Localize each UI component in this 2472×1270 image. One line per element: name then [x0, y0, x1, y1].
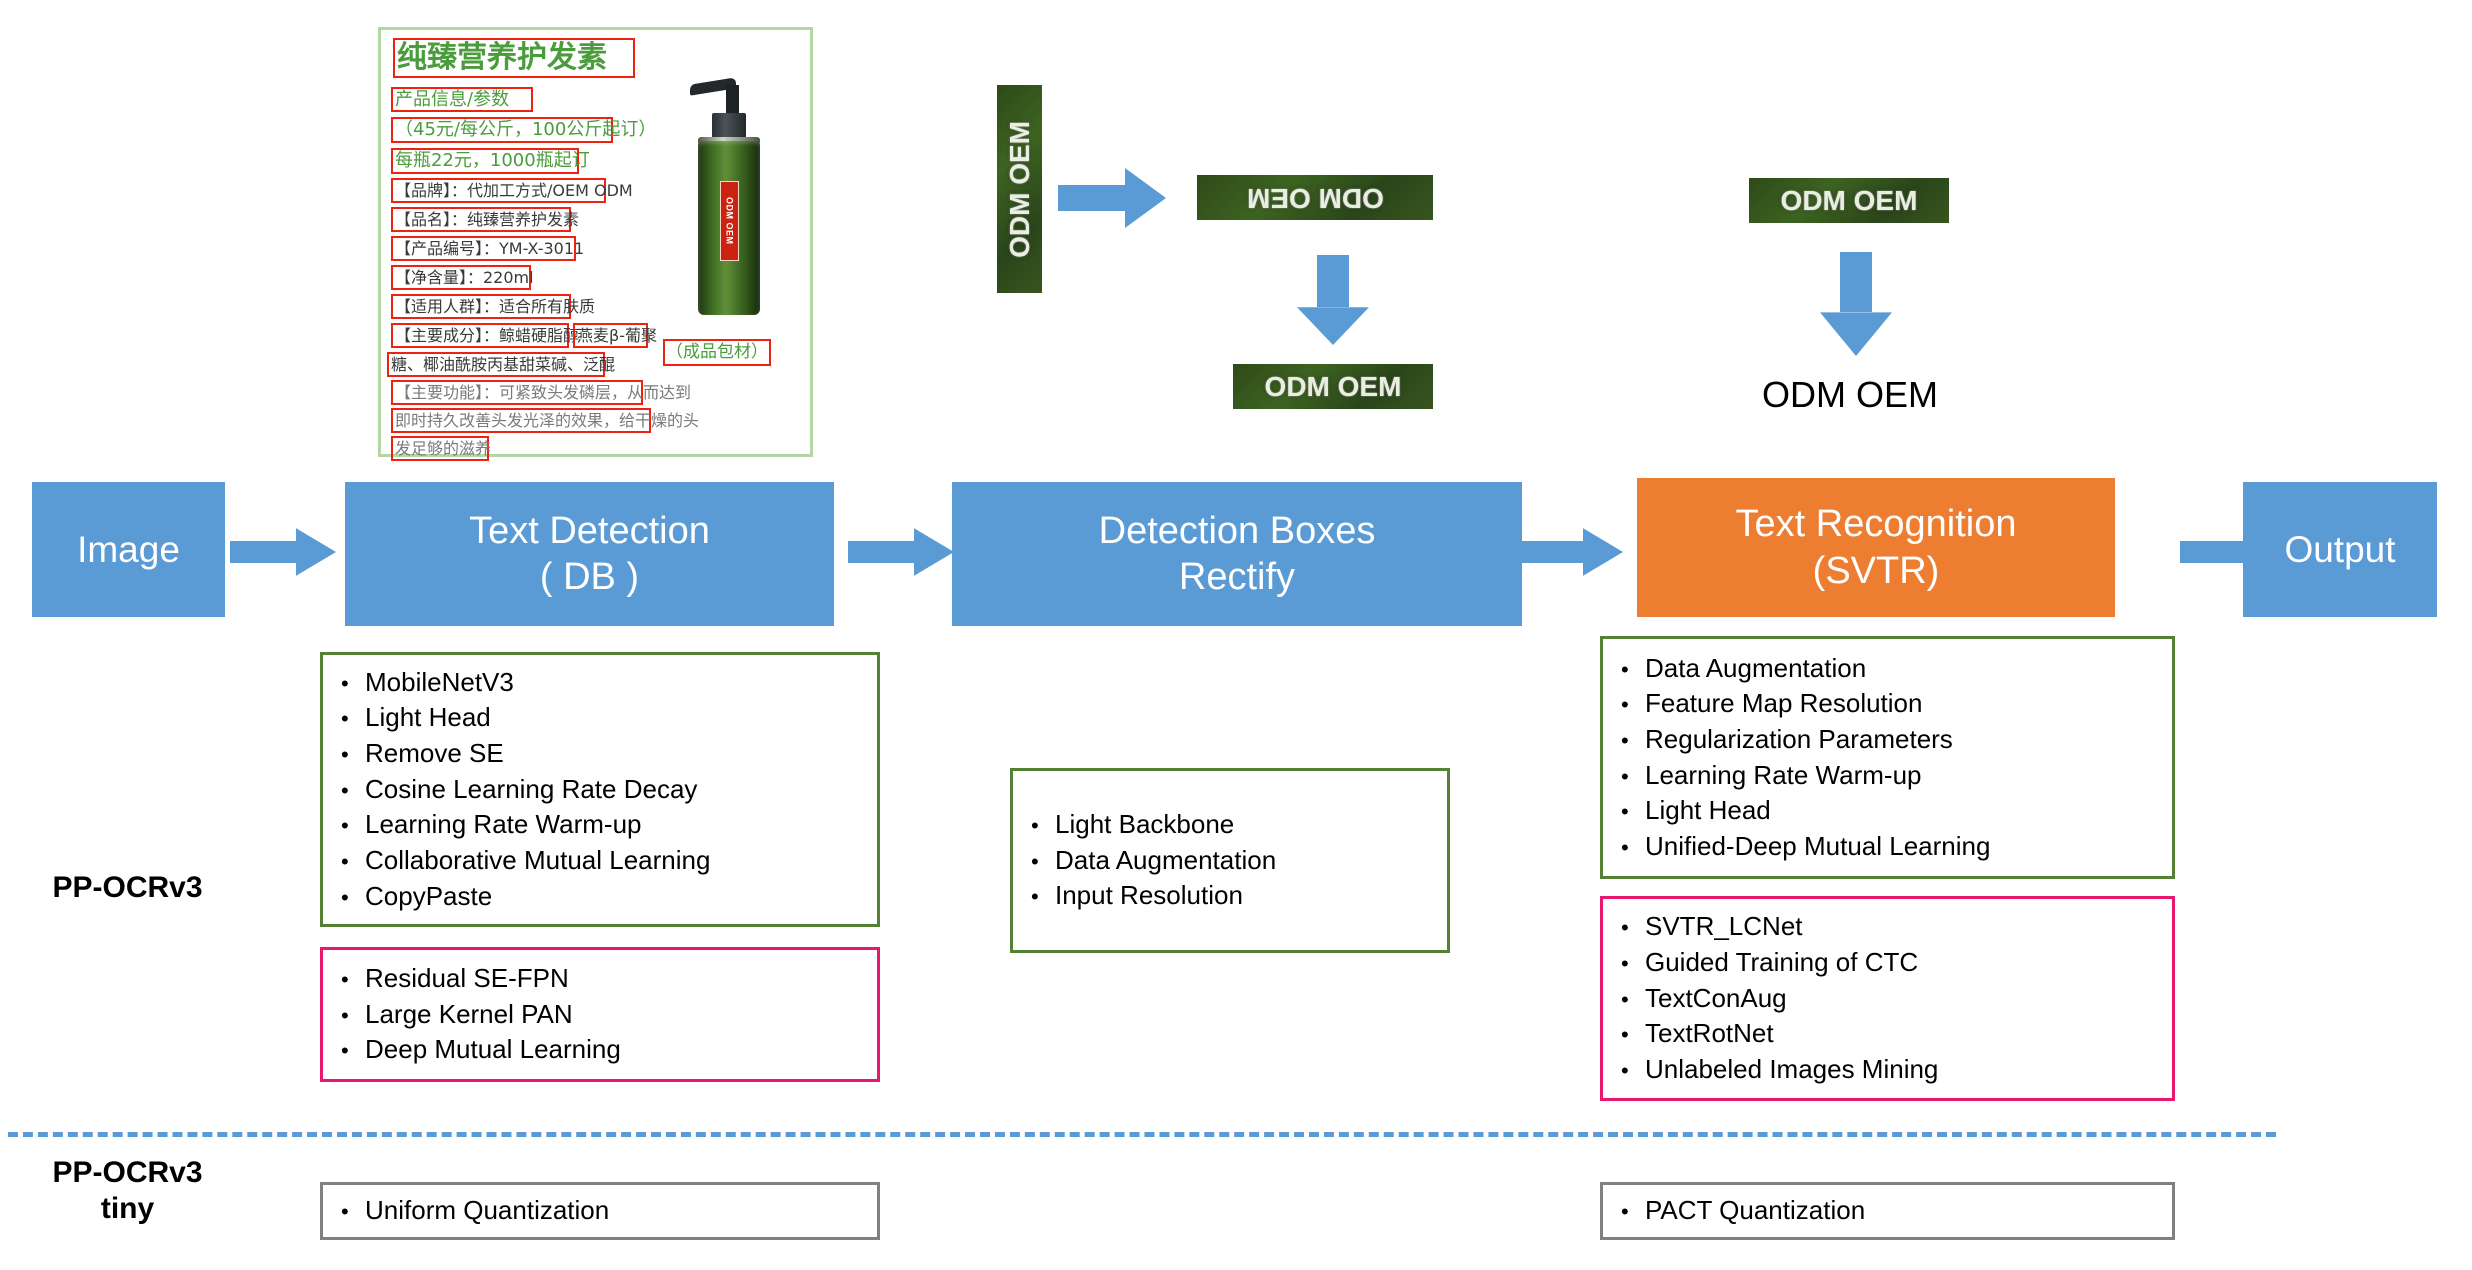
list-item-label: PACT Quantization	[1645, 1193, 1865, 1229]
tiny-recognition-list: •PACT Quantization	[1603, 1193, 2172, 1229]
detected-text-box: 【品名】：纯臻营养护发素	[391, 207, 571, 232]
list-item: •TextRotNet	[1603, 1016, 2172, 1052]
list-item-label: TextConAug	[1645, 981, 1787, 1017]
list-item-label: Data Augmentation	[1645, 651, 1866, 687]
sample-product-image-frame: 纯臻营养护发素 产品信息/参数 （45元/每公斤，100公斤起订） 每瓶22元，…	[378, 27, 813, 457]
card-tiny-detection-quantization: •Uniform Quantization	[320, 1182, 880, 1240]
list-item-label: Residual SE-FPN	[365, 961, 569, 997]
bullet-icon: •	[323, 704, 365, 734]
detection-new-list: •Residual SE-FPN •Large Kernel PAN •Deep…	[323, 961, 877, 1068]
detected-text-box: 【适用人群】：适合所有肤质	[391, 294, 571, 319]
list-item: •Data Augmentation	[1013, 843, 1447, 879]
list-item: •TextConAug	[1603, 981, 2172, 1017]
list-item: •SVTR_LCNet	[1603, 909, 2172, 945]
detected-text-box: 每瓶22元，1000瓶起订	[391, 148, 579, 174]
list-item-label: Cosine Learning Rate Decay	[365, 772, 697, 808]
bullet-icon: •	[1603, 726, 1645, 756]
bullet-icon: •	[323, 669, 365, 699]
list-item-label: Guided Training of CTC	[1645, 945, 1918, 981]
stage-text-recognition[interactable]: Text Recognition (SVTR)	[1637, 478, 2115, 617]
list-item-label: Regularization Parameters	[1645, 722, 1953, 758]
crop-upright-text: ODM OEM	[1265, 371, 1402, 403]
list-item-label: Light Backbone	[1055, 807, 1234, 843]
recognition-strategies-list: •Data Augmentation •Feature Map Resoluti…	[1603, 651, 2172, 865]
bullet-icon: •	[323, 883, 365, 913]
detected-text-box: 燕麦β-葡聚	[573, 323, 648, 348]
arrow-right-icon-1	[230, 528, 336, 576]
stage-detection-boxes-rectify-label: Detection Boxes Rectify	[1099, 508, 1376, 601]
list-item: •Large Kernel PAN	[323, 997, 877, 1033]
list-item: •Unlabeled Images Mining	[1603, 1052, 2172, 1088]
arrow-right-icon-2	[848, 528, 954, 576]
detected-text-box: 即时持久改善头发光泽的效果，给干燥的头	[391, 408, 651, 433]
detected-text-box: 【产品编号】：YM-X-3011	[391, 236, 576, 261]
bullet-icon: •	[1603, 655, 1645, 685]
list-item-label: Light Head	[365, 700, 491, 736]
detected-text-box: 【主要功能】：可紧致头发磷层，从而达到	[391, 380, 643, 405]
detected-text-box: 糖、椰油酰胺丙基甜菜碱、泛醌	[387, 352, 605, 377]
bullet-icon: •	[1013, 847, 1055, 877]
crop-recognition-input-text: ODM OEM	[1781, 185, 1918, 217]
list-item: •Cosine Learning Rate Decay	[323, 772, 877, 808]
list-item-label: SVTR_LCNet	[1645, 909, 1803, 945]
list-item-label: Uniform Quantization	[365, 1193, 609, 1229]
list-item: •PACT Quantization	[1603, 1193, 2172, 1229]
detected-text-box: 发足够的滋养	[391, 436, 489, 461]
stage-image[interactable]: Image	[32, 482, 225, 617]
crop-rotated-odm-oem: ODM OEM	[1197, 175, 1433, 220]
bullet-icon: •	[323, 740, 365, 770]
list-item: •Light Head	[1603, 793, 2172, 829]
detection-overlay: 纯臻营养护发素 产品信息/参数 （45元/每公斤，100公斤起订） 每瓶22元，…	[381, 30, 810, 454]
list-item: •Input Resolution	[1013, 878, 1447, 914]
bullet-icon: •	[323, 1197, 365, 1227]
list-item-label: Collaborative Mutual Learning	[365, 843, 710, 879]
crop-vertical-odm-oem: ODM OEM	[997, 85, 1042, 293]
list-item: •Remove SE	[323, 736, 877, 772]
bullet-icon: •	[1603, 985, 1645, 1015]
list-item-label: Unlabeled Images Mining	[1645, 1052, 1938, 1088]
detected-text-box: 【品牌】：代加工方式/OEM ODM	[391, 178, 606, 203]
product-bottle-illustration: ODM OEM	[686, 75, 766, 325]
list-item: •Light Head	[323, 700, 877, 736]
list-item: •Light Backbone	[1013, 807, 1447, 843]
tiny-detection-list: •Uniform Quantization	[323, 1193, 877, 1229]
bullet-icon: •	[1603, 833, 1645, 863]
list-item-label: Input Resolution	[1055, 878, 1243, 914]
rectify-strategies-list: •Light Backbone •Data Augmentation •Inpu…	[1013, 807, 1447, 914]
bullet-icon: •	[323, 1001, 365, 1031]
stage-output-label: Output	[2284, 527, 2395, 572]
list-item-label: Large Kernel PAN	[365, 997, 573, 1033]
list-item: •Regularization Parameters	[1603, 722, 2172, 758]
crop-upright-odm-oem: ODM OEM	[1233, 364, 1433, 409]
recognition-output-text: ODM OEM	[1705, 371, 1995, 419]
list-item: •Collaborative Mutual Learning	[323, 843, 877, 879]
list-item: •Uniform Quantization	[323, 1193, 877, 1229]
detected-text-box: （45元/每公斤，100公斤起订）	[391, 117, 613, 143]
list-item: •Unified-Deep Mutual Learning	[1603, 829, 2172, 865]
bullet-icon: •	[1603, 949, 1645, 979]
list-item: •Feature Map Resolution	[1603, 686, 2172, 722]
bullet-icon: •	[323, 965, 365, 995]
card-recognition-strategies: •Data Augmentation •Feature Map Resoluti…	[1600, 636, 2175, 879]
list-item-label: Light Head	[1645, 793, 1771, 829]
bullet-icon: •	[1603, 762, 1645, 792]
list-item: •Residual SE-FPN	[323, 961, 877, 997]
card-detection-strategies: •MobileNetV3 •Light Head •Remove SE •Cos…	[320, 652, 880, 927]
card-recognition-new-strategies: •SVTR_LCNet •Guided Training of CTC •Tex…	[1600, 896, 2175, 1101]
list-item-label: MobileNetV3	[365, 665, 514, 701]
detected-text-box: 【主要成分】：鲸蜡硬脂醇	[391, 323, 569, 348]
bullet-icon: •	[1603, 690, 1645, 720]
list-item-label: Learning Rate Warm-up	[1645, 758, 1922, 794]
list-item-label: Feature Map Resolution	[1645, 686, 1922, 722]
crop-vertical-text: ODM OEM	[1004, 121, 1036, 258]
arrow-right-icon-rectify	[1058, 168, 1166, 228]
row-label-ppocrv3: PP-OCRv3	[20, 870, 235, 906]
section-divider	[8, 1132, 2276, 1137]
list-item: •Deep Mutual Learning	[323, 1032, 877, 1068]
detection-strategies-list: •MobileNetV3 •Light Head •Remove SE •Cos…	[323, 665, 877, 914]
list-item-label: Remove SE	[365, 736, 504, 772]
list-item: •Learning Rate Warm-up	[323, 807, 877, 843]
row-label-ppocrv3-tiny: PP-OCRv3 tiny	[20, 1155, 235, 1227]
detected-text-box: （成品包材）	[663, 339, 771, 366]
list-item-label: Unified-Deep Mutual Learning	[1645, 829, 1990, 865]
card-tiny-recognition-quantization: •PACT Quantization	[1600, 1182, 2175, 1240]
arrow-down-icon-rectify	[1297, 255, 1369, 345]
stage-image-label: Image	[77, 527, 180, 572]
list-item-label: Data Augmentation	[1055, 843, 1276, 879]
bullet-icon: •	[1603, 1020, 1645, 1050]
bullet-icon: •	[1603, 1197, 1645, 1227]
bottle-odm-oem-label: ODM OEM	[720, 181, 739, 261]
card-rectify-strategies: •Light Backbone •Data Augmentation •Inpu…	[1010, 768, 1450, 953]
list-item-label: Learning Rate Warm-up	[365, 807, 642, 843]
bullet-icon: •	[1603, 797, 1645, 827]
list-item-label: TextRotNet	[1645, 1016, 1774, 1052]
stage-detection-boxes-rectify[interactable]: Detection Boxes Rectify	[952, 482, 1522, 626]
bullet-icon: •	[1603, 1056, 1645, 1086]
list-item: •Data Augmentation	[1603, 651, 2172, 687]
bullet-icon: •	[323, 1036, 365, 1066]
bullet-icon: •	[1013, 811, 1055, 841]
detected-text-box: 【净含量】：220ml	[391, 265, 531, 290]
detected-text-box: 纯臻营养护发素	[393, 38, 635, 78]
list-item: •MobileNetV3	[323, 665, 877, 701]
bullet-icon: •	[1603, 913, 1645, 943]
arrow-right-icon-3	[1517, 528, 1623, 576]
stage-text-detection-label: Text Detection ( DB )	[469, 508, 710, 601]
crop-recognition-input: ODM OEM	[1749, 178, 1949, 223]
list-item-label: CopyPaste	[365, 879, 492, 915]
list-item: •CopyPaste	[323, 879, 877, 915]
stage-text-recognition-label: Text Recognition (SVTR)	[1736, 501, 2017, 594]
list-item: •Learning Rate Warm-up	[1603, 758, 2172, 794]
arrow-down-icon-recognize	[1820, 252, 1892, 356]
detected-text-box: 产品信息/参数	[391, 87, 533, 112]
crop-rotated-text: ODM OEM	[1247, 182, 1384, 214]
bullet-icon: •	[323, 847, 365, 877]
stage-text-detection[interactable]: Text Detection ( DB )	[345, 482, 834, 626]
bullet-icon: •	[323, 811, 365, 841]
recognition-new-list: •SVTR_LCNet •Guided Training of CTC •Tex…	[1603, 909, 2172, 1087]
bullet-icon: •	[323, 776, 365, 806]
list-item-label: Deep Mutual Learning	[365, 1032, 621, 1068]
bullet-icon: •	[1013, 882, 1055, 912]
stage-output[interactable]: Output	[2243, 482, 2437, 617]
list-item: •Guided Training of CTC	[1603, 945, 2172, 981]
card-detection-new-strategies: •Residual SE-FPN •Large Kernel PAN •Deep…	[320, 947, 880, 1082]
